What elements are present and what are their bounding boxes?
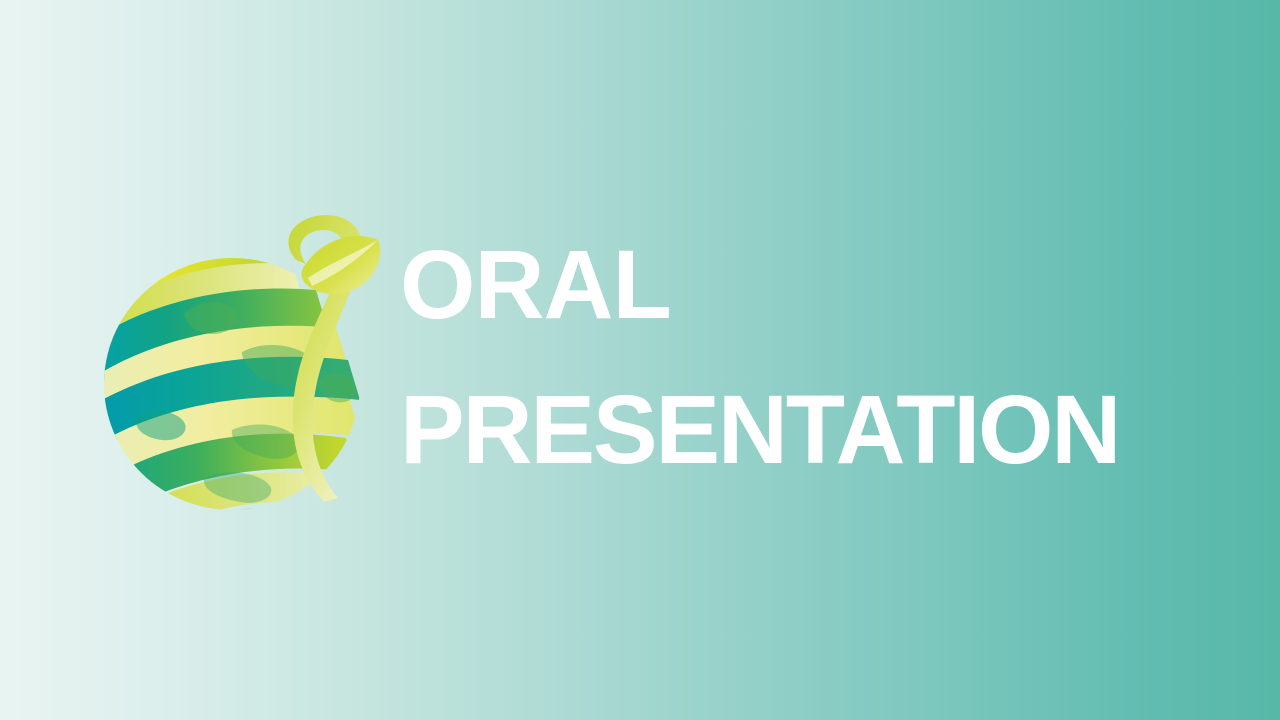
globe-ribbon-leaf-logo [92, 202, 388, 514]
ribbon-band-10 [140, 506, 332, 514]
page-title-line-1: ORAL [400, 236, 1220, 333]
page-title-line-2: PRESENTATION [400, 381, 1220, 478]
title-block: ORAL PRESENTATION [400, 236, 1220, 478]
slide-canvas: ORAL PRESENTATION [0, 0, 1280, 720]
